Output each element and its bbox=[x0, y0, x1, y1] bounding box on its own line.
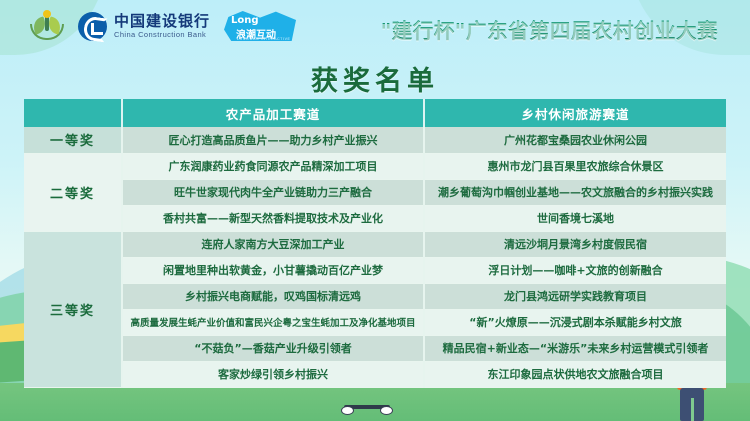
project-cell-track2: 潮乡葡萄沟巾帼创业基地——农文旅融合的乡村振兴实践 bbox=[424, 179, 726, 205]
top-header-bar: 中国建设银行 China Construction Bank Long 浪潮互动… bbox=[0, 0, 750, 52]
project-cell-track2: 清远沙垌月景湾乡村度假民宿 bbox=[424, 231, 726, 257]
table-body: 一等奖匠心打造高品质鱼片——助力乡村产业振兴广州花都宝桑园农业休闲公园二等奖广东… bbox=[24, 127, 726, 387]
table-row: 二等奖广东润康药业药食同源农产品精深加工项目惠州市龙门县百果里农旅综合休景区 bbox=[24, 153, 726, 179]
table-head: 农产品加工赛道 乡村休闲旅游赛道 bbox=[24, 99, 726, 127]
project-cell-track1: 匠心打造高品质鱼片——助力乡村产业振兴 bbox=[122, 127, 424, 153]
table-row: 旺牛世家现代肉牛全产业链助力三产融合潮乡葡萄沟巾帼创业基地——农文旅融合的乡村振… bbox=[24, 179, 726, 205]
project-cell-track2: 世间香境七溪地 bbox=[424, 205, 726, 231]
longwan-logo: Long 浪潮互动 LONGWAN INTERACTIVE bbox=[224, 9, 296, 43]
column-header-track2: 乡村休闲旅游赛道 bbox=[424, 99, 726, 127]
project-cell-track1: 连府人家南方大豆深加工产业 bbox=[122, 231, 424, 257]
project-cell-track2: 广州花都宝桑园农业休闲公园 bbox=[424, 127, 726, 153]
ccb-name-cn: 中国建设银行 bbox=[114, 14, 210, 29]
award-rank-cell: 一等奖 bbox=[24, 127, 122, 153]
column-header-rank bbox=[24, 99, 122, 127]
project-cell-track2: 惠州市龙门县百果里农旅综合休景区 bbox=[424, 153, 726, 179]
project-cell-track2: 精品民宿+新业态—“米游乐”未来乡村运营模式引领者 bbox=[424, 335, 726, 361]
table-row: 闲置地里种出软黄金，小甘薯撬动百亿产业梦浮日计划——咖啡+文旅的创新融合 bbox=[24, 257, 726, 283]
project-cell-track1: 客家炒绿引领乡村振兴 bbox=[122, 361, 424, 387]
table-row: 三等奖连府人家南方大豆深加工产业清远沙垌月景湾乡村度假民宿 bbox=[24, 231, 726, 257]
project-cell-track1: 广东润康药业药食同源农产品精深加工项目 bbox=[122, 153, 424, 179]
project-cell-track1: 旺牛世家现代肉牛全产业链助力三产融合 bbox=[122, 179, 424, 205]
project-cell-track2: 浮日计划——咖啡+文旅的创新融合 bbox=[424, 257, 726, 283]
longwan-subtitle: LONGWAN INTERACTIVE bbox=[237, 37, 290, 41]
project-cell-track1: 高质量发展生蚝产业价值和富民兴企粤之宝生蚝加工及净化基地项目 bbox=[122, 309, 424, 335]
table-row: 一等奖匠心打造高品质鱼片——助力乡村产业振兴广州花都宝桑园农业休闲公园 bbox=[24, 127, 726, 153]
column-header-track1: 农产品加工赛道 bbox=[122, 99, 424, 127]
table-header-row: 农产品加工赛道 乡村休闲旅游赛道 bbox=[24, 99, 726, 127]
table-row: 乡村振兴电商赋能，叹鸡国标清远鸡龙门县鸿远研学实践教育项目 bbox=[24, 283, 726, 309]
table-row: “不菇负”—香菇产业升级引领者精品民宿+新业态—“米游乐”未来乡村运营模式引领者 bbox=[24, 335, 726, 361]
ccb-mark-icon bbox=[78, 12, 107, 41]
page-title: 获奖名单 bbox=[0, 59, 750, 98]
project-cell-track1: 香村共富——新型天然香料提取技术及产业化 bbox=[122, 205, 424, 231]
award-rank-cell: 二等奖 bbox=[24, 153, 122, 231]
skateboard-icon bbox=[338, 402, 396, 415]
project-cell-track2: “新”火燎原——沉浸式剧本杀赋能乡村文旅 bbox=[424, 309, 726, 335]
project-cell-track1: “不菇负”—香菇产业升级引领者 bbox=[122, 335, 424, 361]
agriculture-emblem-icon bbox=[30, 10, 64, 42]
project-cell-track1: 乡村振兴电商赋能，叹鸡国标清远鸡 bbox=[122, 283, 424, 309]
project-cell-track2: 东江印象园点状供地农文旅融合项目 bbox=[424, 361, 726, 387]
award-table: 农产品加工赛道 乡村休闲旅游赛道 一等奖匠心打造高品质鱼片——助力乡村产业振兴广… bbox=[24, 99, 726, 388]
project-cell-track2: 龙门县鸿远研学实践教育项目 bbox=[424, 283, 726, 309]
longwan-latin: Long bbox=[231, 15, 259, 26]
award-table-container: 农产品加工赛道 乡村休闲旅游赛道 一等奖匠心打造高品质鱼片——助力乡村产业振兴广… bbox=[24, 99, 726, 388]
project-cell-track1: 闲置地里种出软黄金，小甘薯撬动百亿产业梦 bbox=[122, 257, 424, 283]
ccb-logo: 中国建设银行 China Construction Bank bbox=[78, 12, 210, 41]
event-title: "建行杯"广东省第四届农村创业大赛 bbox=[381, 14, 718, 44]
table-row: 客家炒绿引领乡村振兴东江印象园点状供地农文旅融合项目 bbox=[24, 361, 726, 387]
table-row: 高质量发展生蚝产业价值和富民兴企粤之宝生蚝加工及净化基地项目“新”火燎原——沉浸… bbox=[24, 309, 726, 335]
ccb-name-en: China Construction Bank bbox=[114, 31, 210, 39]
table-row: 香村共富——新型天然香料提取技术及产业化世间香境七溪地 bbox=[24, 205, 726, 231]
award-rank-cell: 三等奖 bbox=[24, 231, 122, 387]
logo-group: 中国建设银行 China Construction Bank Long 浪潮互动… bbox=[30, 9, 296, 43]
